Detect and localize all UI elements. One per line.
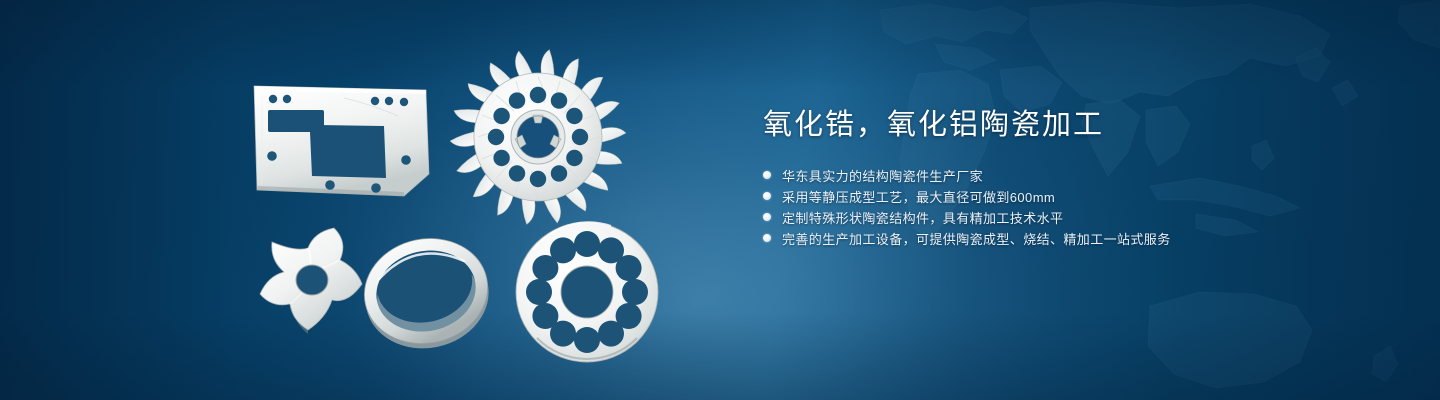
list-item-label: 华东具实力的结构陶瓷件生产厂家	[782, 166, 983, 185]
bullet-dot-icon	[763, 171, 771, 179]
list-item-label: 定制特殊形状陶瓷结构件，具有精加工技术水平	[782, 208, 1063, 227]
page-title: 氧化锆，氧化铝陶瓷加工	[763, 108, 1383, 143]
bullet-dot-icon	[763, 192, 771, 200]
bullet-dot-icon	[763, 213, 771, 221]
product-photo-cluster	[0, 0, 760, 400]
hero-banner: 氧化锆，氧化铝陶瓷加工 华东具实力的结构陶瓷件生产厂家 采用等静压成型工艺，最大…	[0, 0, 1440, 400]
feature-list: 华东具实力的结构陶瓷件生产厂家 采用等静压成型工艺，最大直径可做到600mm 定…	[763, 165, 1383, 249]
list-item: 完善的生产加工设备，可提供陶瓷成型、烧结、精加工一站式服务	[763, 228, 1383, 249]
list-item-label: 采用等静压成型工艺，最大直径可做到600mm	[782, 187, 1055, 206]
ceramic-perforated-annular-disc	[512, 216, 662, 368]
list-item: 华东具实力的结构陶瓷件生产厂家	[763, 165, 1383, 186]
list-item: 采用等静压成型工艺，最大直径可做到600mm	[763, 186, 1383, 207]
ceramic-plate-with-cutouts	[248, 78, 438, 198]
list-item-label: 完善的生产加工设备，可提供陶瓷成型、烧结、精加工一站式服务	[782, 229, 1171, 248]
ceramic-impeller-vaned-disc	[449, 48, 627, 226]
ceramic-ring	[352, 224, 500, 358]
bullet-dot-icon	[763, 234, 771, 242]
banner-text-column: 氧化锆，氧化铝陶瓷加工 华东具实力的结构陶瓷件生产厂家 采用等静压成型工艺，最大…	[763, 108, 1383, 265]
list-item: 定制特殊形状陶瓷结构件，具有精加工技术水平	[763, 207, 1383, 228]
